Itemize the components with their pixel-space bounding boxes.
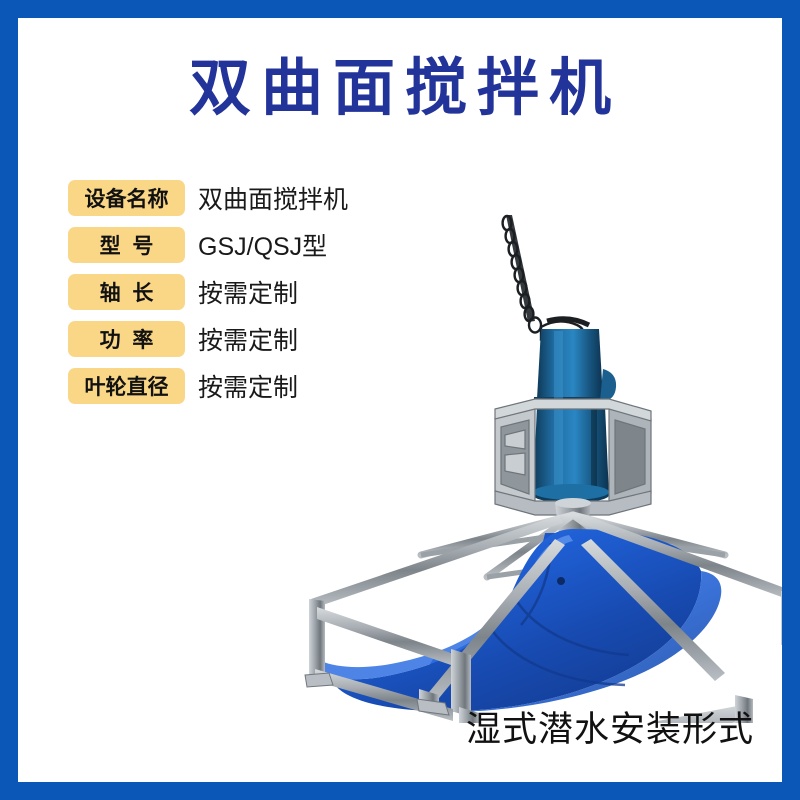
photo-caption: 湿式潜水安装形式 xyxy=(466,701,754,752)
spec-label-model: 型 号 xyxy=(68,227,185,263)
spec-label-impeller-diameter: 叶轮直径 xyxy=(68,368,185,404)
page-title: 双曲面搅拌机 xyxy=(18,56,782,121)
poster-root: 双曲面搅拌机 设备名称 双曲面搅拌机 型 号 GSJ/QSJ型 轴 长 按需定制… xyxy=(0,0,800,800)
poster-inner-panel: 双曲面搅拌机 设备名称 双曲面搅拌机 型 号 GSJ/QSJ型 轴 长 按需定制… xyxy=(18,18,782,782)
spec-label-equipment-name: 设备名称 xyxy=(68,180,185,216)
spec-label-power: 功 率 xyxy=(68,321,185,357)
spec-label-shaft-length: 轴 长 xyxy=(68,274,185,310)
submersible-motor xyxy=(533,319,616,503)
mixer-illustration xyxy=(273,203,782,723)
product-photo xyxy=(273,203,782,723)
